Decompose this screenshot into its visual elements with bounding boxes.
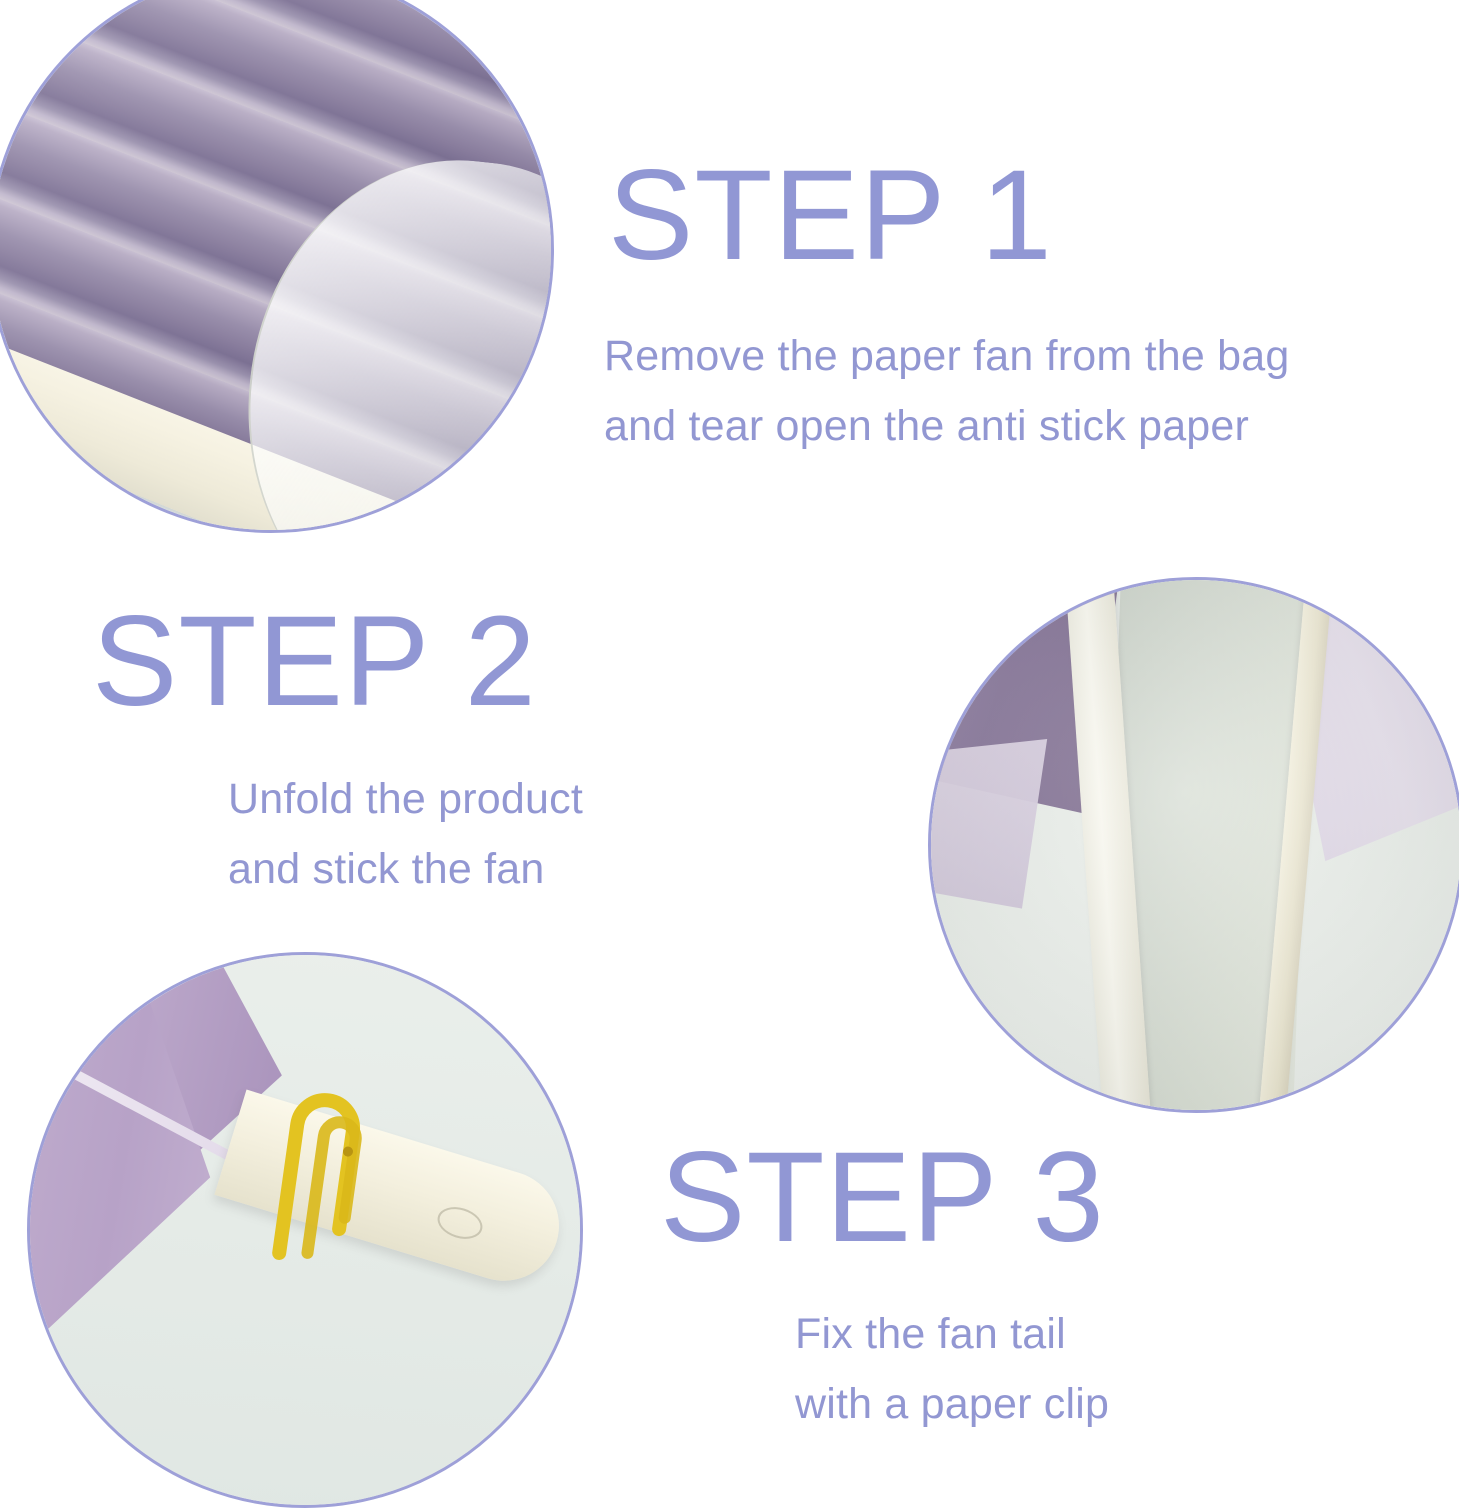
instruction-sheet: STEP 1 Remove the paper fan from the bag…	[0, 0, 1459, 1500]
step-2-line-2: and stick the fan	[228, 835, 583, 905]
step-1-line-2: and tear open the anti stick paper	[604, 392, 1289, 462]
photo-2-lighting	[931, 580, 1459, 1110]
step-3-photo	[27, 952, 583, 1508]
step-3-description: Fix the fan tail with a paper clip	[795, 1300, 1109, 1439]
step-1-line-1: Remove the paper fan from the bag	[604, 322, 1289, 392]
step-3-line-1: Fix the fan tail	[795, 1300, 1109, 1370]
step-1-description: Remove the paper fan from the bag and te…	[604, 322, 1289, 461]
step-1-heading: STEP 1	[608, 152, 1053, 280]
step-2-line-1: Unfold the product	[228, 765, 583, 835]
step-2-photo	[928, 577, 1459, 1113]
step-3-heading: STEP 3	[660, 1134, 1105, 1262]
step-2-description: Unfold the product and stick the fan	[228, 765, 583, 904]
step-3-line-2: with a paper clip	[795, 1370, 1109, 1440]
step-1-photo	[0, 0, 554, 533]
step-2-heading: STEP 2	[92, 598, 537, 726]
